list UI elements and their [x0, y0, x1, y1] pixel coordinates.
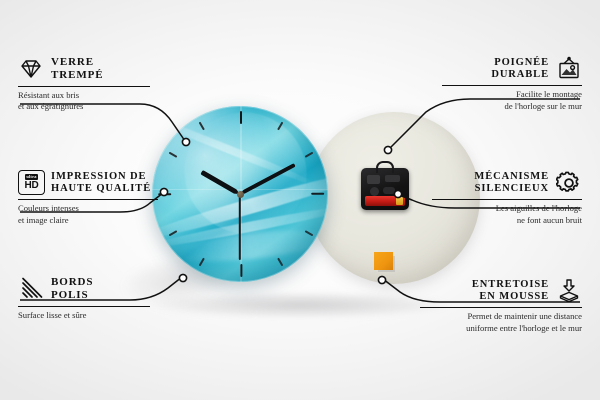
feature-description: Surface lisse et sûre — [18, 310, 150, 321]
feature-impression-haute-qualite: ultra HD IMPRESSION DE HAUTE QUALITÉ Cou… — [18, 170, 158, 226]
feature-entretoise-en-mousse: ENTRETOISE EN MOUSSE Permet de maintenir… — [420, 278, 582, 334]
mechanism-detail — [385, 175, 400, 182]
ultra-hd-badge-icon: ultra HD — [18, 170, 44, 196]
infographic-stage: VERRE TREMPÉ Résistant aux bris et aux é… — [0, 0, 600, 400]
clock-front-view — [152, 106, 328, 282]
feature-divider — [18, 306, 150, 307]
feature-description: Facilite le montage de l'horloge sur le … — [442, 89, 582, 112]
hanging-frame-icon — [556, 56, 582, 82]
feature-heading: ENTRETOISE EN MOUSSE — [420, 278, 582, 304]
feature-title: POIGNÉE DURABLE — [491, 57, 549, 82]
foam-spacer — [374, 252, 393, 270]
feature-divider — [18, 199, 158, 200]
feature-divider — [442, 85, 582, 86]
feature-description: Couleurs intenses et image claire — [18, 203, 158, 226]
feature-divider — [420, 307, 582, 308]
clock-rim — [152, 106, 328, 282]
clock-mechanism — [361, 168, 409, 210]
feature-title: BORDS POLIS — [51, 276, 93, 303]
feature-heading: POIGNÉE DURABLE — [442, 56, 582, 82]
feature-title: VERRE TREMPÉ — [51, 56, 103, 83]
feature-description: Les aiguilles de l'horloge ne font aucun… — [432, 203, 582, 226]
battery — [365, 196, 405, 206]
polished-edges-icon — [18, 276, 44, 302]
feature-description: Permet de maintenir une distance uniform… — [420, 311, 582, 334]
feature-title: ENTRETOISE EN MOUSSE — [472, 279, 549, 304]
feature-description: Résistant aux bris et aux égratignures — [18, 90, 150, 113]
feature-divider — [18, 86, 150, 87]
diamond-icon — [18, 56, 44, 82]
feature-bords-polis: BORDS POLIS Surface lisse et sûre — [18, 276, 150, 321]
feature-heading: VERRE TREMPÉ — [18, 56, 150, 83]
feature-heading: MÉCANISME SILENCIEUX — [432, 170, 582, 196]
feature-title: MÉCANISME SILENCIEUX — [474, 171, 549, 196]
gear-icon — [556, 170, 582, 196]
mechanism-knob — [383, 187, 395, 194]
feature-title: IMPRESSION DE HAUTE QUALITÉ — [51, 171, 151, 196]
foam-spacer-icon — [556, 278, 582, 304]
mechanism-knob — [370, 187, 379, 196]
feature-heading: ultra HD IMPRESSION DE HAUTE QUALITÉ — [18, 170, 158, 196]
feature-divider — [432, 199, 582, 200]
clock-shadow — [150, 292, 450, 318]
feature-verre-trempe: VERRE TREMPÉ Résistant aux bris et aux é… — [18, 56, 150, 113]
feature-heading: BORDS POLIS — [18, 276, 150, 303]
feature-poignee-durable: POIGNÉE DURABLE Facilite le montage de l… — [442, 56, 582, 112]
mechanism-detail — [367, 175, 380, 184]
mechanism-hanger-loop — [376, 161, 394, 173]
feature-mecanisme-silencieux: MÉCANISME SILENCIEUX Les aiguilles de l'… — [432, 170, 582, 226]
